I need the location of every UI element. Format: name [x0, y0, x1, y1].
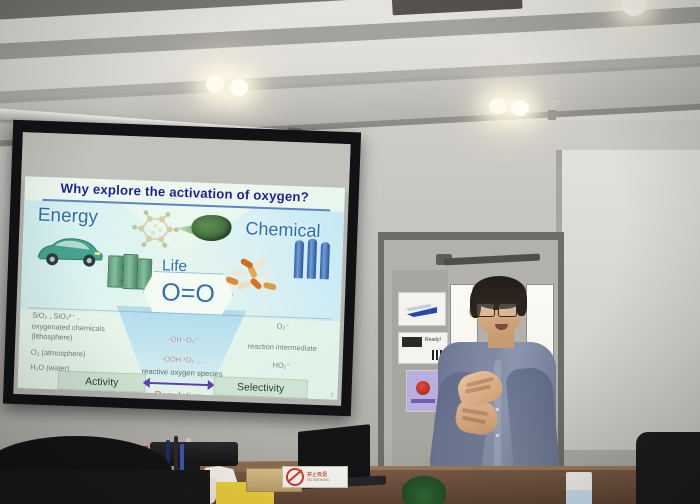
car-illustration: [34, 233, 105, 270]
ceiling-light-2: [230, 79, 248, 96]
glasses-lens-right: [498, 303, 517, 317]
right-wall: [560, 150, 700, 450]
foreground-person-shoulder: [0, 470, 210, 504]
ceiling-lamp-stem: [548, 110, 556, 120]
paper-cup-3-band: [566, 490, 592, 504]
no-smoking-sign: 禁止吸烟 NO SMOKING: [282, 466, 348, 488]
molecule-illustration: [131, 208, 180, 250]
regulation-arrow-line: [148, 381, 210, 386]
red-circle-icon: [416, 381, 430, 395]
oxygen-molecule-hexagon: O=O: [142, 271, 233, 316]
ceiling-light-4: [511, 100, 529, 116]
office-chair[interactable]: [636, 432, 700, 504]
regulation-label: Regulation: [135, 389, 221, 399]
gas-cylinder-1: [294, 240, 304, 278]
presentation-room-photo: Ready! Why explore the activation of oxy…: [0, 0, 700, 504]
potted-plant: [402, 476, 446, 504]
door-closer-arm: [444, 253, 540, 265]
sector-label-energy: Energy: [37, 205, 98, 229]
gas-cylinder-3: [320, 242, 330, 279]
battery-cell-1: [107, 255, 123, 288]
presentation-slide: Why explore the activation of oxygen?: [17, 176, 345, 400]
poster-logo-block: [402, 337, 422, 347]
reaction-intermediate-block: O₂⁻ reaction intermediate HO₂⁻: [226, 320, 338, 373]
no-smoking-sub-text: NO SMOKING: [307, 478, 329, 482]
gas-cylinder-2: [307, 239, 317, 279]
activity-box: Activity: [57, 371, 146, 393]
glasses-lens-left: [476, 303, 495, 317]
selectivity-box: Selectivity: [213, 376, 308, 398]
ceiling-light-1: [206, 76, 224, 93]
glasses-bridge: [493, 308, 498, 310]
projection-screen-surface: Why explore the activation of oxygen?: [13, 132, 350, 406]
slide-page-number: 2: [330, 393, 333, 399]
no-smoking-icon: [286, 468, 304, 486]
sector-label-chemical: Chemical: [245, 218, 321, 242]
ceiling-light-3: [489, 98, 507, 114]
reactive-oxygen-species-list: ·OH ·O₂⁻ ·OOH ¹O₂ …: [126, 332, 239, 368]
projection-screen[interactable]: Why explore the activation of oxygen?: [3, 120, 361, 417]
oxygen-molecule-label: O=O: [161, 280, 215, 307]
